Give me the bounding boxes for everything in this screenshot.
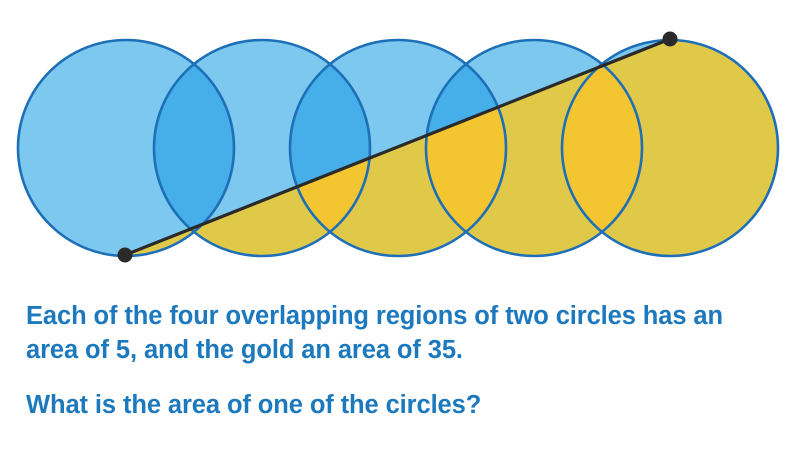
circles-svg (0, 0, 794, 290)
problem-question: What is the area of one of the circles? (26, 389, 776, 423)
page-root: Each of the four overlapping regions of … (0, 0, 794, 454)
problem-statement: Each of the four overlapping regions of … (26, 300, 776, 367)
geometry-figure (0, 0, 794, 290)
problem-prompt: Each of the four overlapping regions of … (26, 300, 776, 423)
right-endpoint-dot (663, 32, 678, 47)
left-endpoint-dot (118, 248, 133, 263)
